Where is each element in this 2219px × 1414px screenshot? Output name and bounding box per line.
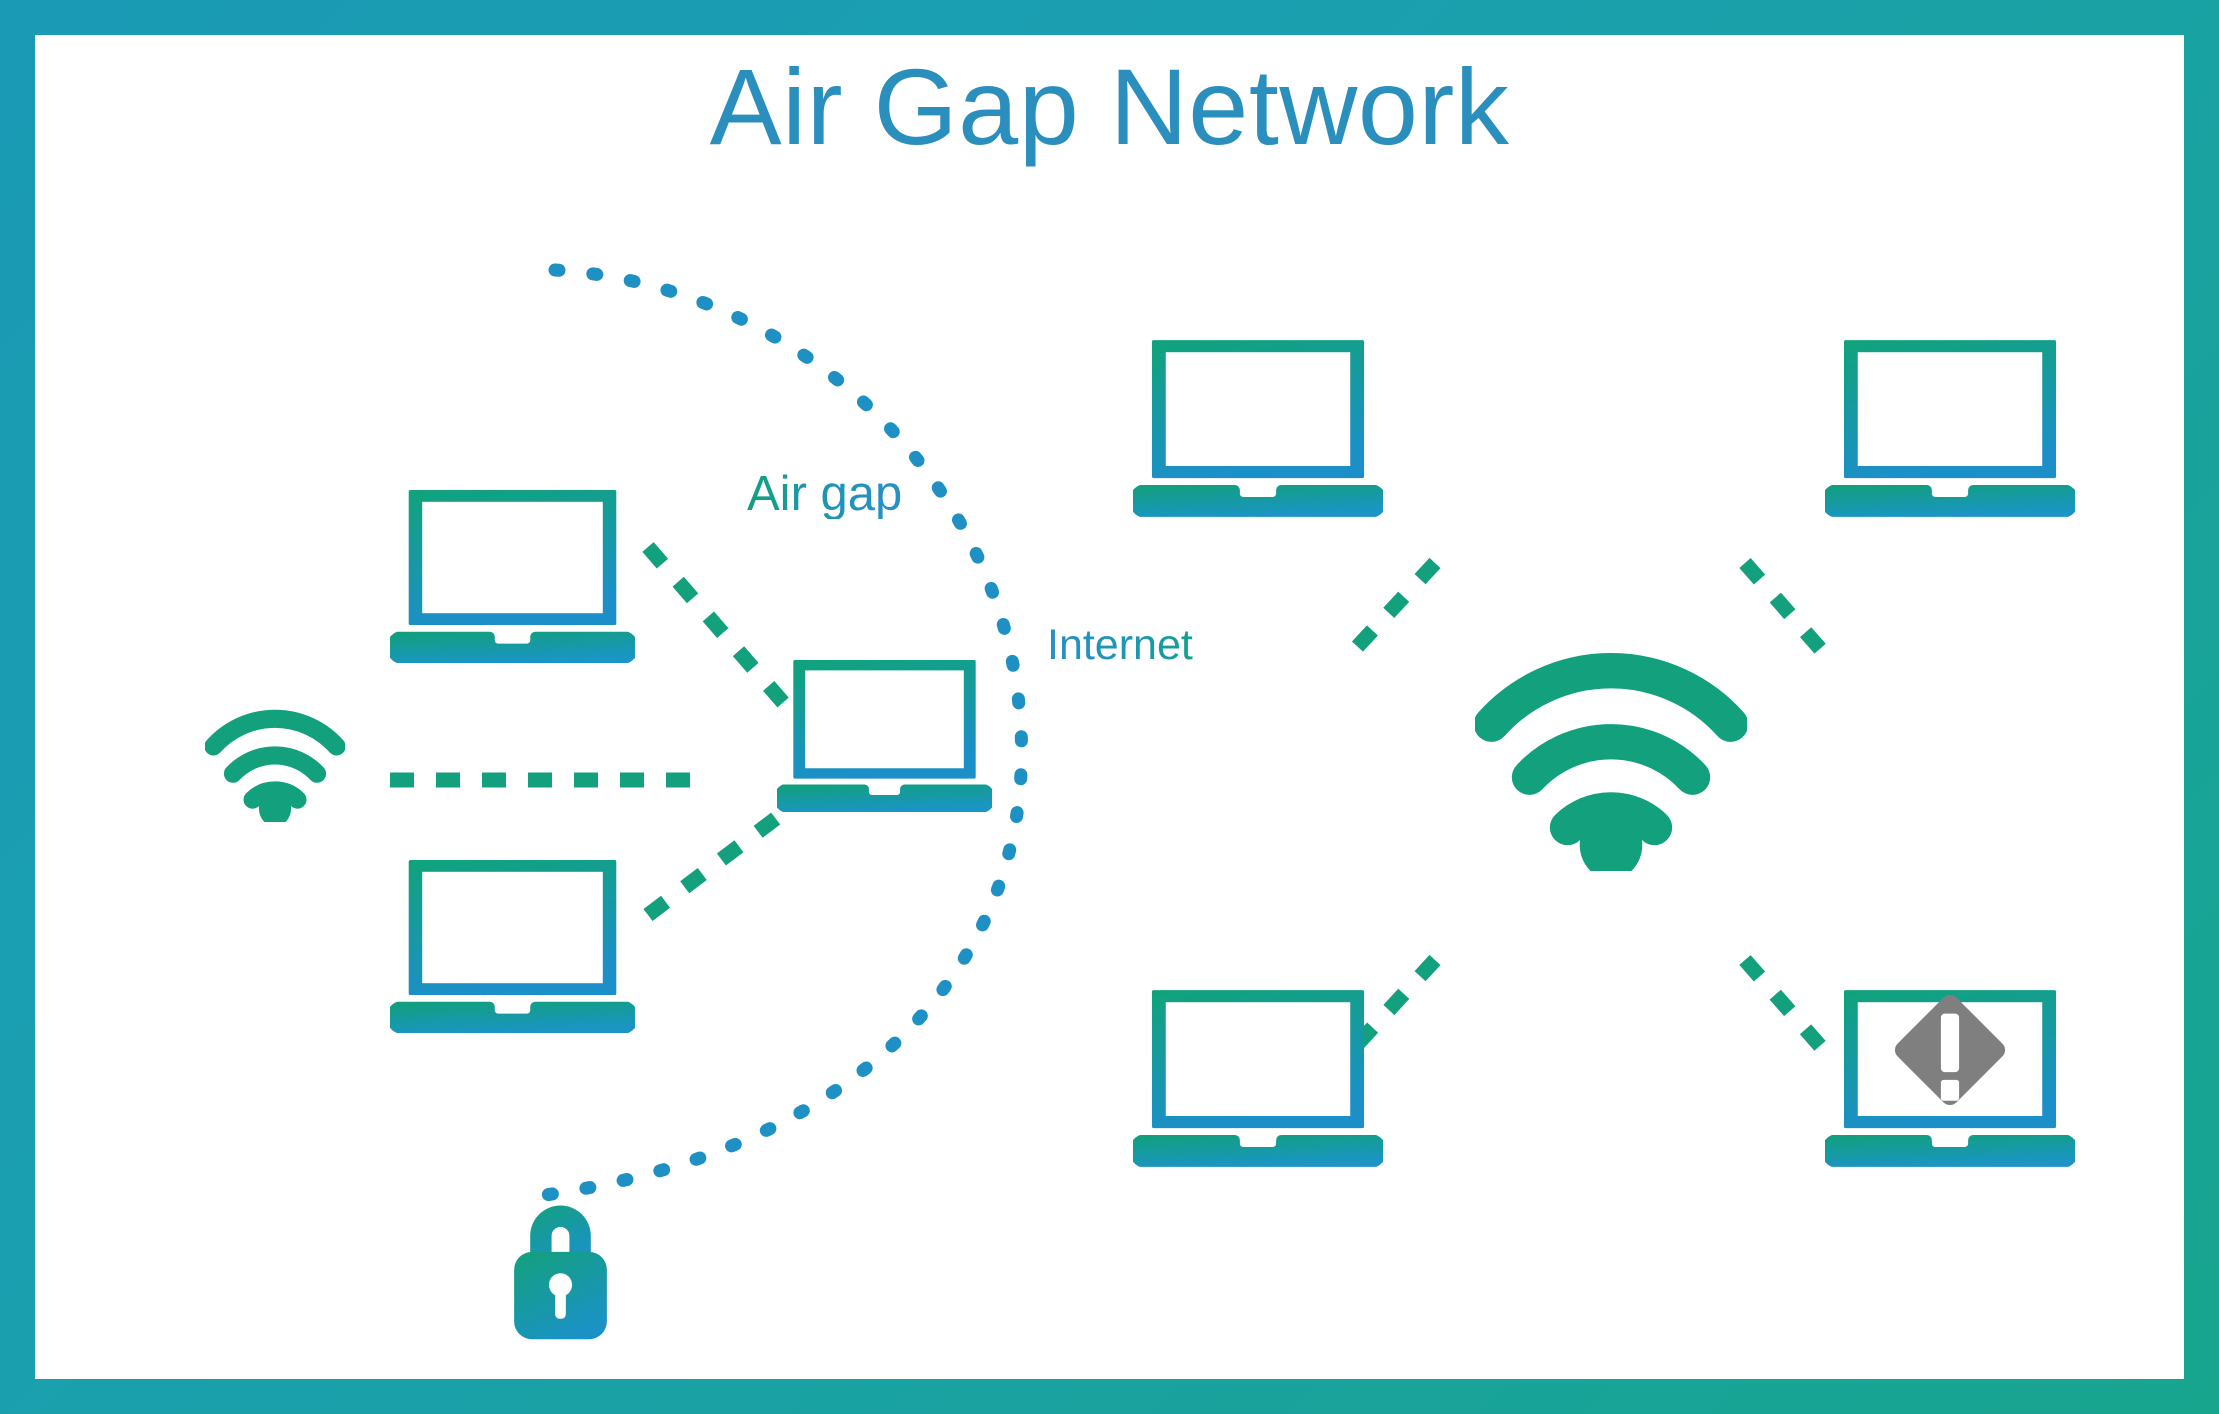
link-internet-to-warning [1745, 960, 1835, 1063]
secure-laptop-top[interactable] [386, 490, 638, 663]
internet-label: Internet [1047, 624, 1193, 667]
net-laptop-top-left[interactable] [1129, 340, 1387, 517]
link-internet-to-top-right [1745, 563, 1830, 660]
internet-wifi-icon[interactable] [1491, 671, 1730, 879]
link-internet-to-top-left [1345, 563, 1435, 660]
secure-wifi-icon[interactable] [213, 719, 336, 826]
secure-hub-laptop[interactable] [774, 660, 996, 812]
diagram-canvas: Air Gap Network Air gap Internet [35, 35, 2184, 1379]
secure-laptop-bottom[interactable] [386, 860, 638, 1033]
net-laptop-top-right[interactable] [1821, 340, 2079, 517]
air-gap-label: Air gap [747, 470, 902, 519]
net-laptop-bottom-left[interactable] [1129, 990, 1387, 1167]
link-secure-bottom-to-hub [648, 810, 787, 915]
link-secure-top-to-hub [648, 547, 787, 707]
diagram-vector-layer [35, 35, 2184, 1379]
lock-icon[interactable] [514, 1206, 607, 1340]
air-gap-network-diagram: Air Gap Network Air gap Internet [0, 0, 2219, 1414]
page-title: Air Gap Network [35, 53, 2184, 161]
net-laptop-warning[interactable] [1821, 990, 2079, 1167]
